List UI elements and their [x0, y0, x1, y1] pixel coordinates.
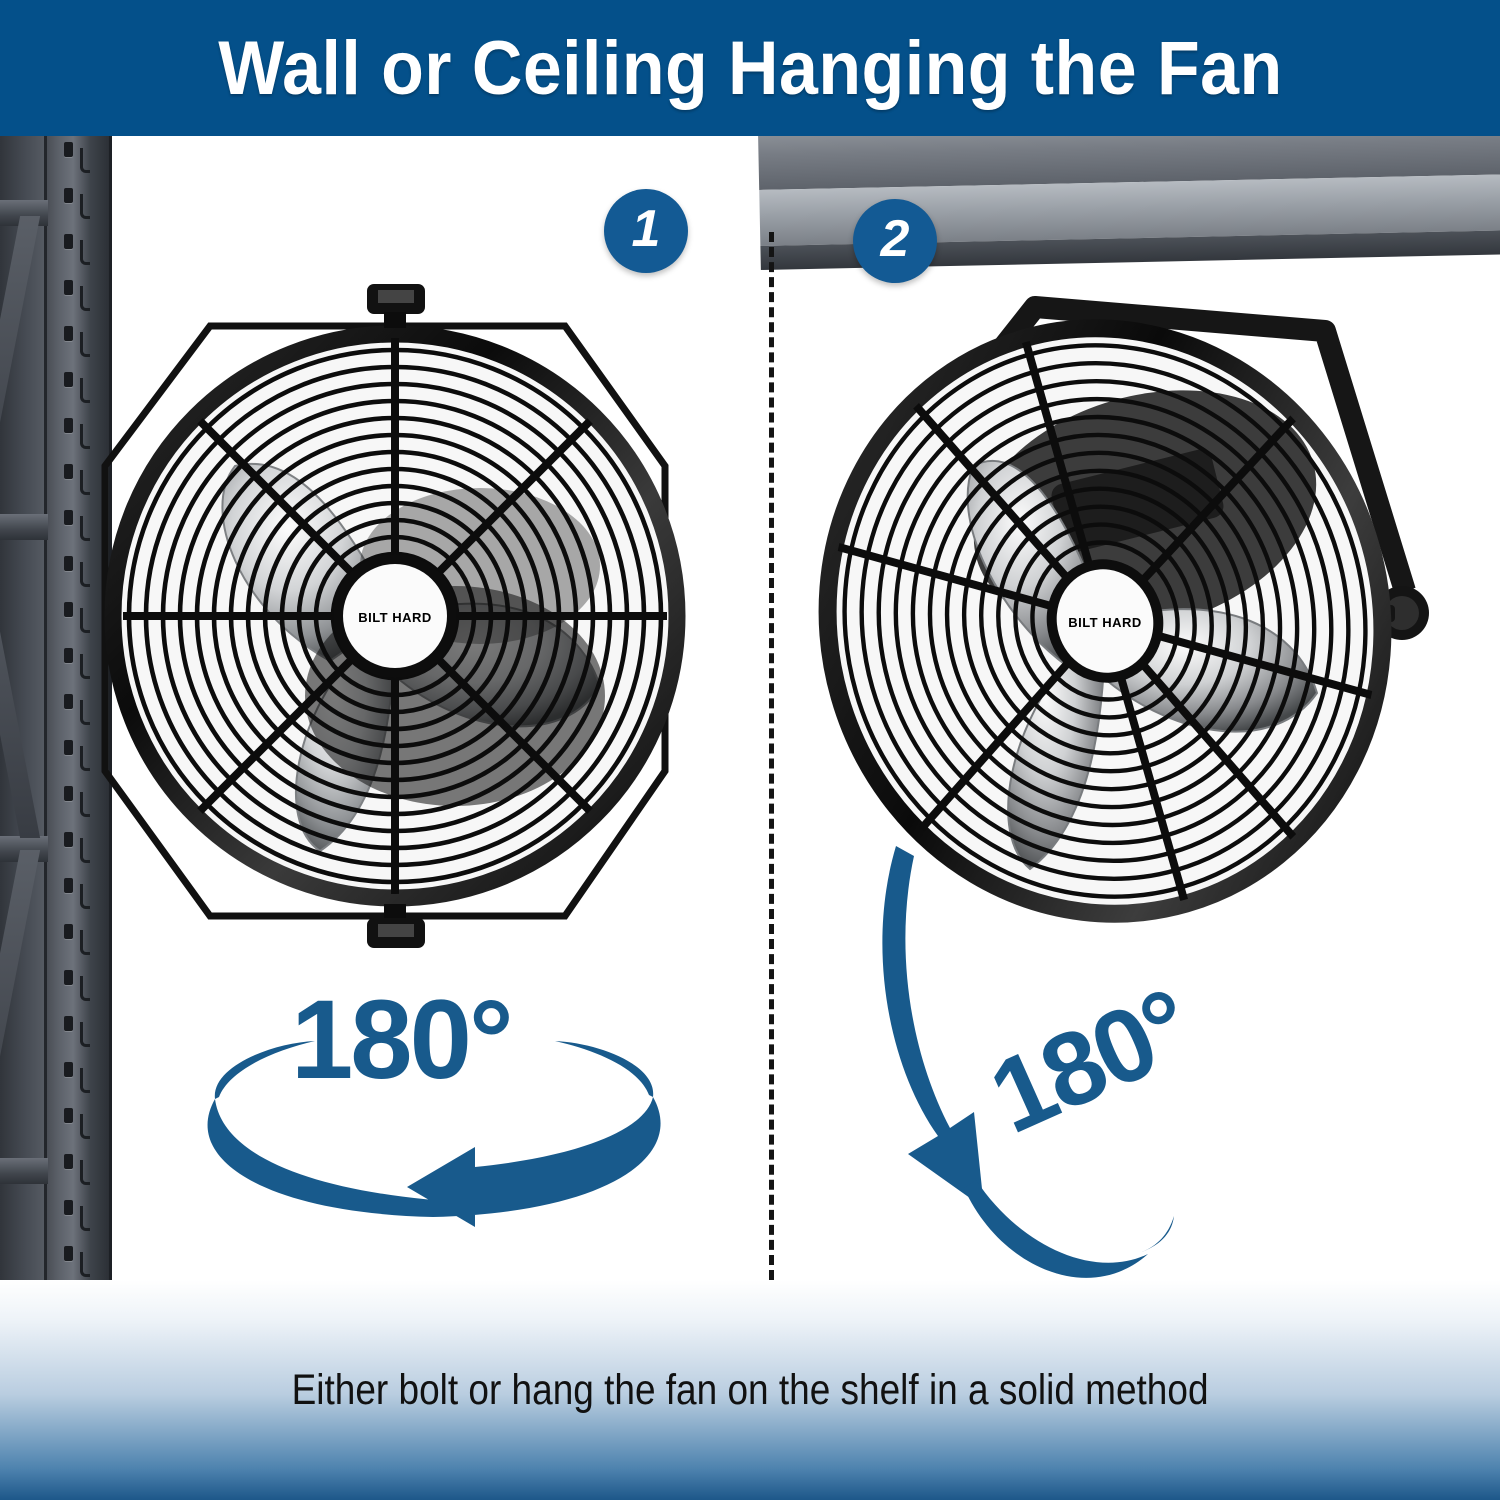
rack-slot	[64, 602, 73, 617]
rack-slot-hook	[80, 1114, 90, 1139]
rack-slot-hook	[80, 654, 90, 679]
comparison-stage: BILT HARD	[0, 136, 1500, 1280]
rack-slot	[64, 418, 73, 433]
rack-slot-hook	[80, 838, 90, 863]
rack-slot-hook	[80, 976, 90, 1001]
rack-slot	[64, 786, 73, 801]
rotation-degrees-left: 180°	[291, 975, 511, 1104]
rack-slot-pattern	[60, 136, 100, 1280]
rack-slot-hook	[80, 1206, 90, 1231]
rack-slot	[64, 556, 73, 571]
rack-slot-hook	[80, 930, 90, 955]
step-badge-1-number: 1	[632, 203, 661, 255]
rack-slot-hook	[80, 792, 90, 817]
rack-slot-hook	[80, 1160, 90, 1185]
rack-slot	[64, 1016, 73, 1031]
rotation-indicator-vertical: 180°	[880, 836, 1280, 1280]
rack-slot	[64, 510, 73, 525]
rack-slot	[64, 188, 73, 203]
footer-caption: Either bolt or hang the fan on the shelf…	[292, 1366, 1209, 1415]
panel-divider	[769, 232, 774, 1280]
rack-slot-hook	[80, 1068, 90, 1093]
rack-slot	[64, 878, 73, 893]
header-banner: Wall or Ceiling Hanging the Fan	[0, 0, 1500, 136]
rack-slot-hook	[80, 884, 90, 909]
rack-beam	[0, 514, 48, 540]
rack-slot	[64, 1154, 73, 1169]
rack-slot-hook	[80, 470, 90, 495]
rack-slot-hook	[80, 148, 90, 173]
footer-banner: Either bolt or hang the fan on the shelf…	[0, 1280, 1500, 1500]
rack-slot	[64, 142, 73, 157]
rack-slot	[64, 372, 73, 387]
rack-slot	[64, 1062, 73, 1077]
rotation-indicator-horizontal: 180°	[175, 981, 695, 1241]
rack-slot-hook	[80, 240, 90, 265]
rack-slot-hook	[80, 1022, 90, 1047]
step-badge-1: 1	[604, 189, 688, 273]
step-badge-2: 2	[853, 199, 937, 283]
rack-slot-hook	[80, 700, 90, 725]
tilt-knob-bottom[interactable]	[367, 904, 425, 948]
tilt-knob-top[interactable]	[367, 284, 425, 328]
fan-wall-mounted: BILT HARD	[95, 266, 755, 986]
rack-slot-hook	[80, 332, 90, 357]
rack-slot	[64, 740, 73, 755]
infographic-page: Wall or Ceiling Hanging the Fan	[0, 0, 1500, 1500]
fan-hub-brand-label: BILT HARD	[1068, 615, 1142, 630]
rack-slot-hook	[80, 378, 90, 403]
rack-slot	[64, 648, 73, 663]
rack-slot	[64, 326, 73, 341]
rack-slot-hook	[80, 194, 90, 219]
rack-slot-hook	[80, 1252, 90, 1277]
rack-slot	[64, 832, 73, 847]
page-title: Wall or Ceiling Hanging the Fan	[218, 25, 1282, 112]
rack-slot-hook	[80, 746, 90, 771]
rack-slot-hook	[80, 608, 90, 633]
rack-slot	[64, 234, 73, 249]
rack-slot	[64, 924, 73, 939]
rack-slot-hook	[80, 286, 90, 311]
rack-slot	[64, 1200, 73, 1215]
rack-slot	[64, 1108, 73, 1123]
fan-hub-brand-label: BILT HARD	[358, 610, 432, 625]
rack-slot	[64, 1246, 73, 1261]
rack-beam	[0, 1158, 48, 1184]
rack-slot	[64, 280, 73, 295]
rack-slot	[64, 694, 73, 709]
rack-slot	[64, 464, 73, 479]
step-badge-2-number: 2	[881, 213, 910, 265]
rack-slot-hook	[80, 516, 90, 541]
rack-slot-hook	[80, 424, 90, 449]
rack-slot	[64, 970, 73, 985]
rack-slot-hook	[80, 562, 90, 587]
